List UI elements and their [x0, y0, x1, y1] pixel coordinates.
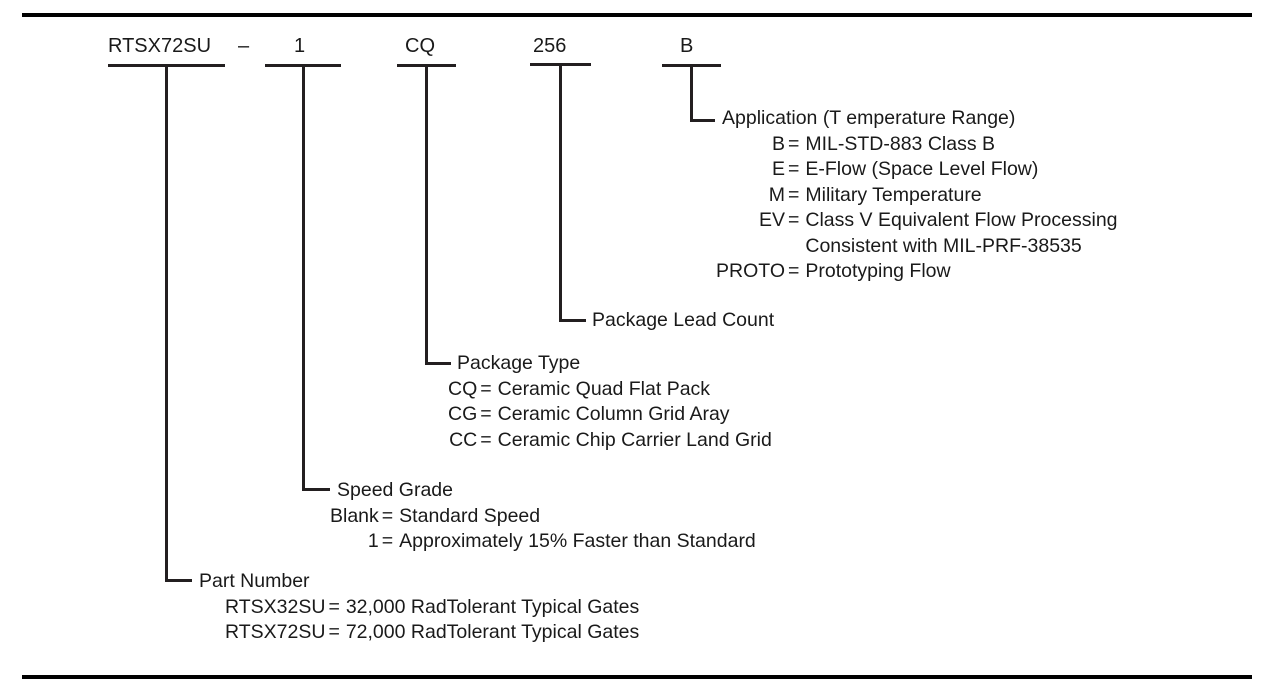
leader-elbow-part-number — [165, 579, 192, 582]
definition-text: Military Temperature — [805, 183, 1117, 209]
definition-code: CQ — [448, 377, 480, 403]
definition-equals: = — [788, 183, 805, 209]
definition-text: Class V Equivalent Flow Processing — [805, 208, 1117, 234]
code-field-application: B — [680, 34, 693, 58]
callout-part-number-heading: Part Number — [199, 569, 639, 595]
callout-part-number: Part Number RTSX32SU = 32,000 RadToleran… — [199, 569, 639, 646]
callout-package-type-heading: Package Type — [457, 351, 772, 377]
code-field-package-lead-count: 256 — [533, 34, 566, 58]
definition-equals — [788, 234, 805, 260]
callout-package-lead-count: Package Lead Count — [592, 308, 774, 334]
definition-row: CG = Ceramic Column Grid Aray — [448, 402, 772, 428]
definition-equals: = — [788, 132, 805, 158]
callout-speed-grade: Speed Grade Blank = Standard Speed 1 = A… — [337, 478, 756, 555]
code-field-part-number: RTSX72SU — [108, 34, 211, 58]
definition-code: RTSX72SU — [225, 620, 328, 646]
callout-speed-grade-definitions: Blank = Standard Speed 1 = Approximately… — [330, 504, 756, 555]
callout-package-lead-count-heading: Package Lead Count — [592, 308, 774, 334]
callout-speed-grade-heading: Speed Grade — [337, 478, 756, 504]
definition-code: CG — [448, 402, 480, 428]
leader-vertical-part-number — [165, 67, 168, 582]
definition-row: RTSX72SU = 72,000 RadTolerant Typical Ga… — [225, 620, 639, 646]
definition-text: 72,000 RadTolerant Typical Gates — [346, 620, 639, 646]
callout-package-type: Package Type CQ = Ceramic Quad Flat Pack… — [457, 351, 772, 453]
definition-text: Ceramic Column Grid Aray — [498, 402, 772, 428]
definition-row: EV = Class V Equivalent Flow Processing — [716, 208, 1118, 234]
definition-equals: = — [788, 157, 805, 183]
definition-row: RTSX32SU = 32,000 RadTolerant Typical Ga… — [225, 595, 639, 621]
definition-code: CC — [448, 428, 480, 454]
definition-row-continuation: Consistent with MIL-PRF-38535 — [716, 234, 1118, 260]
leader-elbow-application — [690, 119, 715, 122]
definition-code: B — [716, 132, 788, 158]
callout-application-heading: Application (T emperature Range) — [722, 106, 1118, 132]
definition-row: 1 = Approximately 15% Faster than Standa… — [330, 529, 756, 555]
definition-text: Ceramic Quad Flat Pack — [498, 377, 772, 403]
definition-row: B = MIL-STD-883 Class B — [716, 132, 1118, 158]
definition-text: Standard Speed — [399, 504, 756, 530]
definition-row: Blank = Standard Speed — [330, 504, 756, 530]
bottom-divider-rule — [22, 675, 1252, 679]
callout-application-definitions: B = MIL-STD-883 Class B E = E-Flow (Spac… — [716, 132, 1118, 285]
definition-equals: = — [382, 529, 399, 555]
leader-vertical-application — [690, 67, 693, 122]
top-divider-rule — [22, 13, 1252, 17]
definition-row: CC = Ceramic Chip Carrier Land Grid — [448, 428, 772, 454]
ordering-information-diagram: RTSX72SU – 1 CQ 256 B Application (T emp… — [0, 0, 1274, 692]
definition-equals: = — [382, 504, 399, 530]
definition-code: Blank — [330, 504, 382, 530]
definition-code: 1 — [330, 529, 382, 555]
definition-text: Prototyping Flow — [805, 259, 1117, 285]
definition-equals: = — [788, 208, 805, 234]
definition-code: RTSX32SU — [225, 595, 328, 621]
leader-elbow-package-type — [425, 362, 451, 365]
definition-code — [716, 234, 788, 260]
callout-part-number-definitions: RTSX32SU = 32,000 RadTolerant Typical Ga… — [225, 595, 639, 646]
leader-elbow-speed-grade — [302, 488, 330, 491]
definition-code: M — [716, 183, 788, 209]
definition-text: Consistent with MIL-PRF-38535 — [805, 234, 1117, 260]
leader-vertical-package-type — [425, 67, 428, 365]
definition-text: Approximately 15% Faster than Standard — [399, 529, 756, 555]
code-field-package-type: CQ — [405, 34, 435, 58]
definition-equals: = — [480, 428, 497, 454]
definition-text: E-Flow (Space Level Flow) — [805, 157, 1117, 183]
definition-equals: = — [328, 620, 345, 646]
definition-text: MIL-STD-883 Class B — [805, 132, 1117, 158]
definition-row: PROTO = Prototyping Flow — [716, 259, 1118, 285]
definition-equals: = — [480, 402, 497, 428]
callout-package-type-definitions: CQ = Ceramic Quad Flat Pack CG = Ceramic… — [448, 377, 772, 454]
definition-code: E — [716, 157, 788, 183]
definition-row: M = Military Temperature — [716, 183, 1118, 209]
definition-text: Ceramic Chip Carrier Land Grid — [498, 428, 772, 454]
definition-row: E = E-Flow (Space Level Flow) — [716, 157, 1118, 183]
leader-elbow-package-lead-count — [559, 319, 586, 322]
code-field-dash-separator: – — [238, 34, 249, 58]
definition-code: PROTO — [716, 259, 788, 285]
leader-vertical-speed-grade — [302, 67, 305, 491]
definition-row: CQ = Ceramic Quad Flat Pack — [448, 377, 772, 403]
callout-application: Application (T emperature Range) B = MIL… — [722, 106, 1118, 285]
definition-code: EV — [716, 208, 788, 234]
definition-equals: = — [788, 259, 805, 285]
leader-vertical-package-lead-count — [559, 66, 562, 322]
code-field-speed-grade: 1 — [294, 34, 305, 58]
definition-equals: = — [480, 377, 497, 403]
definition-text: 32,000 RadTolerant Typical Gates — [346, 595, 639, 621]
definition-equals: = — [328, 595, 345, 621]
